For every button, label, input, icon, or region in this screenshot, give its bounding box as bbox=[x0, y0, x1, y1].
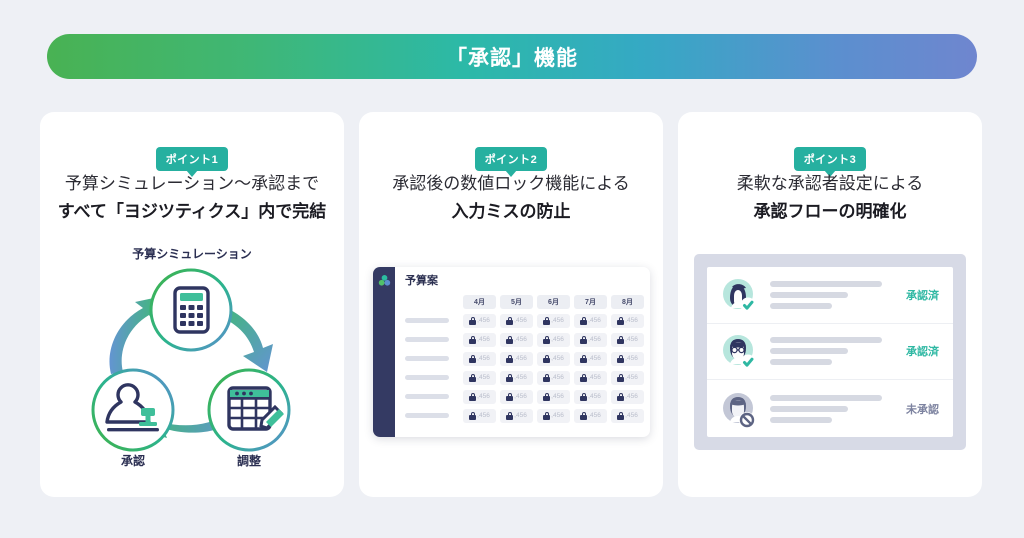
table-cell-locked: ,456 bbox=[574, 409, 607, 423]
table-cell-locked: ,456 bbox=[574, 371, 607, 385]
cell-value: ,456 bbox=[514, 393, 527, 400]
lock-icon bbox=[506, 393, 513, 401]
table-row: ,456,456,456,456,456 bbox=[401, 406, 644, 425]
approver-row: 承認済 bbox=[707, 324, 953, 381]
cell-value: ,456 bbox=[588, 355, 601, 362]
table-body: 予算案 4月 5月 6月 7月 8月 ,456,456,456,456,456,… bbox=[395, 267, 650, 437]
card-title-2: 承認後の数値ロック機能による 入力ミスの防止 bbox=[359, 170, 663, 226]
row-label bbox=[401, 356, 459, 361]
cell-value: ,456 bbox=[514, 374, 527, 381]
lock-icon bbox=[506, 355, 513, 363]
lock-icon bbox=[543, 374, 550, 382]
card-point-1: ポイント1 予算シミュレーション〜承認まで すべて「ヨジツティクス」内で完結 予… bbox=[40, 112, 344, 497]
header-bar: 「承認」機能 bbox=[47, 34, 977, 79]
badge-wrap-3: ポイント3 bbox=[678, 147, 982, 171]
table-cell-locked: ,456 bbox=[611, 390, 644, 404]
table-cell-locked: ,456 bbox=[463, 409, 496, 423]
cell-value: ,456 bbox=[588, 374, 601, 381]
lock-icon bbox=[469, 336, 476, 344]
cell-value: ,456 bbox=[588, 393, 601, 400]
table-cell-locked: ,456 bbox=[537, 371, 570, 385]
cell-value: ,456 bbox=[551, 355, 564, 362]
cell-value: ,456 bbox=[625, 336, 638, 343]
badge-wrap-2: ポイント2 bbox=[359, 147, 663, 171]
column-header: 4月 bbox=[463, 295, 496, 309]
cell-value: ,456 bbox=[588, 336, 601, 343]
table-cell-locked: ,456 bbox=[500, 390, 533, 404]
table-cell-locked: ,456 bbox=[537, 409, 570, 423]
table-cell-locked: ,456 bbox=[574, 352, 607, 366]
row-label bbox=[401, 337, 459, 342]
table-cell-locked: ,456 bbox=[611, 314, 644, 328]
column-header: 5月 bbox=[500, 295, 533, 309]
table-row: ,456,456,456,456,456 bbox=[401, 311, 644, 330]
table-rows: ,456,456,456,456,456,456,456,456,456,456… bbox=[401, 311, 644, 425]
lock-icon bbox=[580, 412, 587, 420]
lock-icon bbox=[543, 317, 550, 325]
badge-wrap-1: ポイント1 bbox=[40, 147, 344, 171]
cell-value: ,456 bbox=[625, 355, 638, 362]
table-cell-locked: ,456 bbox=[463, 352, 496, 366]
approver-row: 承認済 bbox=[707, 267, 953, 324]
table-cell-locked: ,456 bbox=[500, 409, 533, 423]
approver-list: 承認済 bbox=[707, 267, 953, 437]
cycle-node-label-approval: 承認 bbox=[121, 453, 145, 468]
avatar-male-approved-icon bbox=[719, 331, 759, 371]
lock-icon bbox=[617, 317, 624, 325]
lock-icon bbox=[580, 374, 587, 382]
lock-icon bbox=[617, 374, 624, 382]
card-title-line1: 承認後の数値ロック機能による bbox=[359, 170, 663, 197]
table-cell-locked: ,456 bbox=[611, 409, 644, 423]
row-label bbox=[401, 413, 459, 418]
table-cell-locked: ,456 bbox=[611, 352, 644, 366]
lock-icon bbox=[580, 336, 587, 344]
cell-value: ,456 bbox=[588, 412, 601, 419]
lock-icon bbox=[506, 317, 513, 325]
table-row: ,456,456,456,456,456 bbox=[401, 330, 644, 349]
app-sidebar bbox=[373, 267, 395, 437]
lock-icon bbox=[580, 393, 587, 401]
card-title-1: 予算シミュレーション〜承認まで すべて「ヨジツティクス」内で完結 bbox=[40, 170, 344, 226]
lock-icon bbox=[617, 336, 624, 344]
card-title-line1: 予算シミュレーション〜承認まで bbox=[40, 170, 344, 197]
table-cell-locked: ,456 bbox=[463, 390, 496, 404]
row-label bbox=[401, 318, 459, 323]
avatar-pending-icon bbox=[719, 389, 759, 429]
approver-status: 承認済 bbox=[893, 343, 939, 359]
table-cell-locked: ,456 bbox=[463, 314, 496, 328]
table-cell-locked: ,456 bbox=[537, 352, 570, 366]
approver-list-mock: 承認済 bbox=[694, 254, 966, 450]
cell-value: ,456 bbox=[514, 412, 527, 419]
lock-icon bbox=[506, 374, 513, 382]
cell-value: ,456 bbox=[551, 317, 564, 324]
cell-value: ,456 bbox=[514, 317, 527, 324]
lock-icon bbox=[469, 393, 476, 401]
cycle-node-adjust bbox=[209, 370, 289, 450]
table-cell-locked: ,456 bbox=[611, 371, 644, 385]
card-point-2: ポイント2 承認後の数値ロック機能による 入力ミスの防止 予算案 bbox=[359, 112, 663, 497]
lock-icon bbox=[469, 317, 476, 325]
approver-placeholder-lines bbox=[759, 281, 893, 309]
cell-value: ,456 bbox=[625, 317, 638, 324]
table-row: ,456,456,456,456,456 bbox=[401, 349, 644, 368]
cell-value: ,456 bbox=[625, 393, 638, 400]
approver-placeholder-lines bbox=[759, 395, 893, 423]
table-cell-locked: ,456 bbox=[463, 333, 496, 347]
card-container: ポイント1 予算シミュレーション〜承認まで すべて「ヨジツティクス」内で完結 予… bbox=[40, 112, 984, 497]
cycle-node-approval bbox=[93, 370, 173, 450]
lock-icon bbox=[543, 336, 550, 344]
table-title: 予算案 bbox=[405, 272, 438, 288]
cell-value: ,456 bbox=[551, 412, 564, 419]
infographic-page: 「承認」機能 ポイント1 予算シミュレーション〜承認まで すべて「ヨジツティクス… bbox=[0, 0, 1024, 538]
lock-icon bbox=[543, 355, 550, 363]
cell-value: ,456 bbox=[588, 317, 601, 324]
cell-value: ,456 bbox=[514, 336, 527, 343]
table-cell-locked: ,456 bbox=[611, 333, 644, 347]
table-cell-locked: ,456 bbox=[537, 314, 570, 328]
table-row: ,456,456,456,456,456 bbox=[401, 387, 644, 406]
cell-value: ,456 bbox=[551, 336, 564, 343]
card-title-3: 柔軟な承認者設定による 承認フローの明確化 bbox=[678, 170, 982, 226]
cycle-node-label-adjust: 調整 bbox=[237, 453, 261, 468]
table-grid: 4月 5月 6月 7月 8月 ,456,456,456,456,456,456,… bbox=[395, 292, 650, 425]
cell-value: ,456 bbox=[551, 374, 564, 381]
cell-value: ,456 bbox=[477, 317, 490, 324]
card-title-line2: 入力ミスの防止 bbox=[359, 197, 663, 226]
cell-value: ,456 bbox=[625, 374, 638, 381]
row-label bbox=[401, 375, 459, 380]
card-title-line2: 承認フローの明確化 bbox=[678, 197, 982, 226]
avatar-female-approved-icon bbox=[719, 275, 759, 315]
table-cell-locked: ,456 bbox=[500, 314, 533, 328]
cell-value: ,456 bbox=[514, 355, 527, 362]
point-badge-1: ポイント1 bbox=[156, 147, 229, 171]
column-header: 8月 bbox=[611, 295, 644, 309]
lock-icon bbox=[506, 336, 513, 344]
approver-status: 承認済 bbox=[893, 287, 939, 303]
card-title-line2: すべて「ヨジツティクス」内で完結 bbox=[40, 197, 344, 226]
table-cell-locked: ,456 bbox=[500, 371, 533, 385]
lock-icon bbox=[469, 374, 476, 382]
cycle-label: 予算シミュレーション bbox=[40, 245, 344, 262]
table-header: 予算案 bbox=[395, 267, 650, 292]
cell-value: ,456 bbox=[477, 374, 490, 381]
point-badge-3: ポイント3 bbox=[794, 147, 867, 171]
cell-value: ,456 bbox=[477, 393, 490, 400]
lock-icon bbox=[543, 412, 550, 420]
table-cell-locked: ,456 bbox=[574, 333, 607, 347]
cycle-node-calculator bbox=[151, 270, 231, 350]
cycle-diagram: 承認 調整 bbox=[77, 262, 307, 472]
table-cell-locked: ,456 bbox=[500, 333, 533, 347]
cell-value: ,456 bbox=[625, 412, 638, 419]
budget-table-mock: 予算案 4月 5月 6月 7月 8月 ,456,456,456,456,456,… bbox=[373, 267, 650, 437]
card-point-3: ポイント3 柔軟な承認者設定による 承認フローの明確化 bbox=[678, 112, 982, 497]
table-cell-locked: ,456 bbox=[537, 333, 570, 347]
page-title: 「承認」機能 bbox=[446, 42, 578, 72]
lock-icon bbox=[469, 412, 476, 420]
approver-status: 未承認 bbox=[893, 401, 939, 417]
lock-icon bbox=[469, 355, 476, 363]
lock-icon bbox=[617, 412, 624, 420]
lock-icon bbox=[580, 317, 587, 325]
table-cell-locked: ,456 bbox=[500, 352, 533, 366]
table-cell-locked: ,456 bbox=[574, 314, 607, 328]
row-label bbox=[401, 394, 459, 399]
app-logo-icon bbox=[378, 274, 391, 287]
approver-placeholder-lines bbox=[759, 337, 893, 365]
lock-icon bbox=[617, 355, 624, 363]
cell-value: ,456 bbox=[477, 355, 490, 362]
table-column-header-row: 4月 5月 6月 7月 8月 bbox=[401, 292, 644, 311]
table-row: ,456,456,456,456,456 bbox=[401, 368, 644, 387]
table-cell-locked: ,456 bbox=[574, 390, 607, 404]
cell-value: ,456 bbox=[477, 412, 490, 419]
approver-row: 未承認 bbox=[707, 380, 953, 437]
lock-icon bbox=[580, 355, 587, 363]
card-title-line1: 柔軟な承認者設定による bbox=[678, 170, 982, 197]
lock-icon bbox=[617, 393, 624, 401]
lock-icon bbox=[543, 393, 550, 401]
column-header: 7月 bbox=[574, 295, 607, 309]
lock-icon bbox=[506, 412, 513, 420]
table-cell-locked: ,456 bbox=[537, 390, 570, 404]
point-badge-2: ポイント2 bbox=[475, 147, 548, 171]
cell-value: ,456 bbox=[477, 336, 490, 343]
table-cell-locked: ,456 bbox=[463, 371, 496, 385]
column-header: 6月 bbox=[537, 295, 570, 309]
cell-value: ,456 bbox=[551, 393, 564, 400]
